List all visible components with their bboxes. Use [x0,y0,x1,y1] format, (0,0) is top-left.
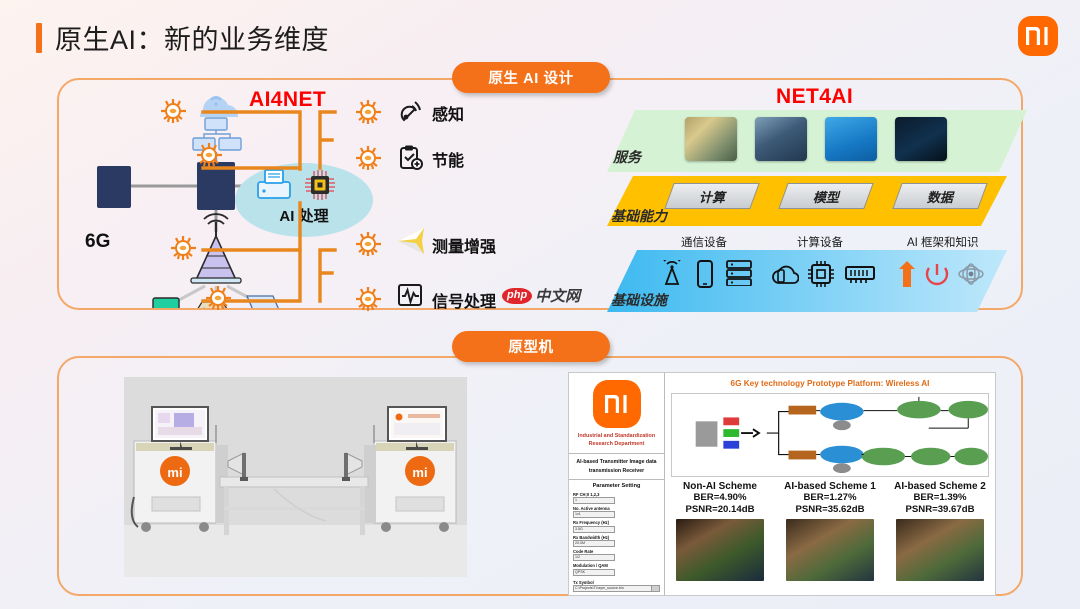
chip-icon [170,235,196,261]
page-title-text: 原生AI：新的业务维度 [55,18,329,57]
label-6g: 6G [85,231,110,253]
signal-waveform-icon [396,281,424,309]
ability-item-compute[interactable]: 计算 [664,183,759,209]
gui-control-panel: Industrial and Standardization Research … [569,373,665,595]
energy-clipboard-icon [396,144,424,172]
gui-field-rx-frequency[interactable]: Rx Frequency (Hz) 3.5G [573,520,615,532]
gui-parameter-grid: RF CH;0 1,2,3 1 No. Active antenna 1x1 R… [569,492,664,596]
tensorflow-icon [925,261,949,287]
watermark-cn: 中文网 [535,285,580,306]
net4ai-layer-infrastructure: 基础设施 通信设备 计算设备 AI 框架和知识 [607,250,1007,312]
ability-item-data[interactable]: 数据 [892,183,987,209]
net4ai-layer-ability: 基础能力 计算 模型 数据 [607,176,1007,226]
net4ai-layer-service: 服务 [607,110,1027,172]
feature-label-energy: 节能 [432,147,464,171]
gui-field-code-rate[interactable]: Code Rate 1/2 [573,549,615,561]
infra-group-label-compute: 计算设备 [797,234,843,250]
result-image-ai-1 [786,519,874,581]
watermark: php 中文网 [502,285,580,306]
gui-parameter-title: Parameter Setting [569,480,664,492]
lab-photo-graphic: mi mi [124,377,467,577]
service-image-robot [825,117,877,161]
memory-icon [845,264,875,284]
chip-icon [355,286,381,312]
chip-icon [355,99,381,125]
sensing-radar-icon [396,98,424,126]
ai4net-wiring [170,95,440,310]
gui-block-diagram [671,393,989,477]
gui-results-row: Non-AI Scheme BER=4.90% PSNR=20.14dB AI-… [665,481,995,581]
result-non-ai: Non-AI Scheme BER=4.90% PSNR=20.14dB [665,481,775,581]
ability-item-model[interactable]: 模型 [778,183,873,209]
service-image-ai-face [895,117,947,161]
feature-label-sensing: 感知 [432,101,464,125]
chip-icon [205,285,231,311]
service-layer-shape [607,110,1027,172]
ability-layer-label: 基础能力 [611,206,667,226]
gui-department-label: Industrial and Standardization Research … [569,432,664,453]
chip-icon [196,142,222,168]
page-title: 原生AI：新的业务维度 [36,18,329,57]
gui-results-panel: 6G Key technology Prototype Platform: Wi… [665,373,995,595]
svg-text:mi: mi [167,465,182,480]
chip-icon [355,231,381,257]
gui-field-modulation[interactable]: Modulation / QAM QPSK [573,563,615,575]
xiaomi-logo [1018,16,1058,56]
prototype-lab-photo: mi mi [124,377,467,577]
svg-text:mi: mi [412,465,427,480]
cpu-chip-icon [807,260,835,288]
service-image-industry [755,117,807,161]
neural-net-icon [955,263,987,285]
infra-group-label-ai: AI 框架和知识 [907,234,979,250]
cloud-server-icon [771,261,799,287]
smartphone-icon [695,260,715,288]
result-image-ai-2 [896,519,984,581]
service-image-transport [685,117,737,161]
title-accent-bar [36,23,42,53]
feature-label-measurement: 测量增强 [432,233,496,257]
gui-field-rf-channel[interactable]: RF CH;0 1,2,3 1 [573,492,615,504]
pytorch-icon [895,260,919,288]
gui-field-tx-symbol[interactable]: Tx Symbol C:\Projects\Tx\sym_source.bin [573,580,660,592]
gui-field-active-antenna[interactable]: No. Active antenna 1x1 [573,506,615,518]
measurement-beam-icon [394,226,426,256]
result-ai-1: AI-based Scheme 1 BER=1.27% PSNR=35.62dB [775,481,885,581]
server-rack-icon [725,260,753,286]
result-image-non-ai [676,519,764,581]
net4ai-title: NET4AI [776,85,853,109]
chip-icon [355,145,381,171]
badge-native-ai-design: 原生 AI 设计 [452,62,610,93]
antenna-icon [659,260,685,286]
result-ai-2: AI-based Scheme 2 BER=1.39% PSNR=39.67dB [885,481,995,581]
gui-platform-title: 6G Key technology Prototype Platform: Wi… [665,379,995,388]
feature-label-signal: 信号处理 [432,288,496,312]
badge-prototype: 原型机 [452,331,610,362]
browse-icon[interactable] [651,586,659,591]
prototype-gui-screenshot: Industrial and Standardization Research … [568,372,996,596]
watermark-php: php [502,288,532,304]
service-layer-label: 服务 [613,147,641,167]
gui-subtitle: AI-based Transmitter Image data transmis… [569,454,664,479]
chip-icon [160,98,186,124]
infra-group-label-comm: 通信设备 [681,234,727,250]
gui-xiaomi-logo [593,380,641,428]
infra-layer-label: 基础设施 [611,290,667,310]
gui-field-rx-bandwidth[interactable]: Rx Bandwidth (Hz) 20.0M [573,535,615,547]
